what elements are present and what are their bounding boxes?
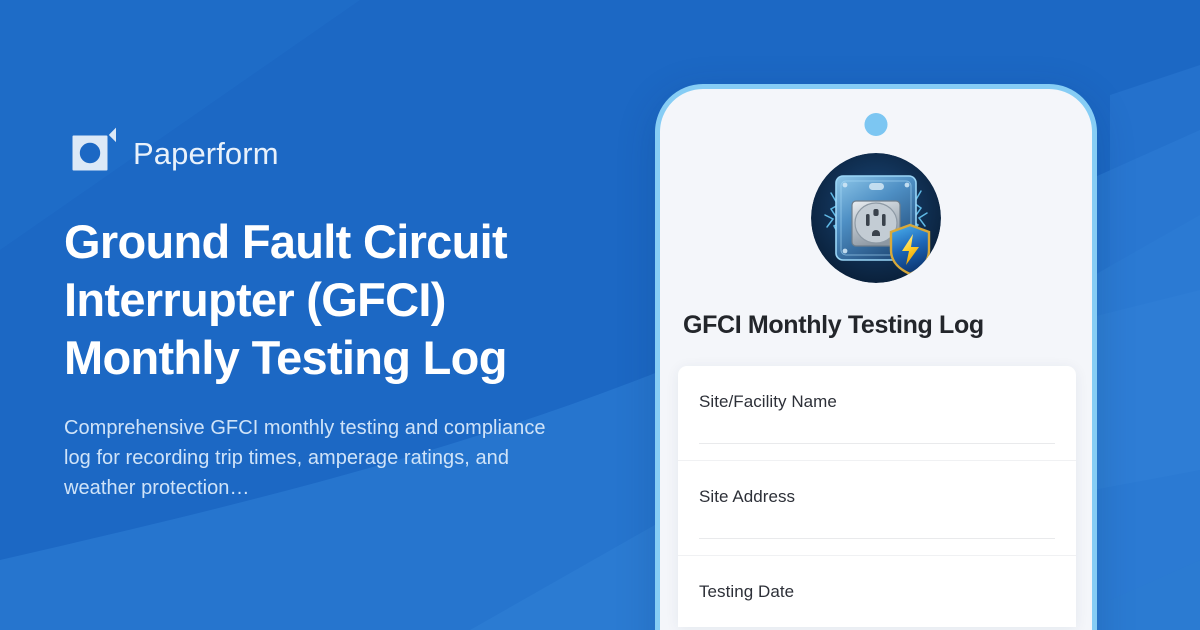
form-card: Site/Facility Name Site Address Testing … bbox=[678, 366, 1076, 627]
camera-dot-icon bbox=[865, 113, 888, 136]
form-field-site-address[interactable]: Site Address bbox=[678, 461, 1076, 556]
brand-logo[interactable]: Paperform bbox=[64, 127, 624, 179]
hero-content: Paperform Ground Fault Circuit Interrupt… bbox=[64, 0, 624, 630]
form-field-testing-date[interactable]: Testing Date bbox=[678, 556, 1076, 627]
page-subtitle: Comprehensive GFCI monthly testing and c… bbox=[64, 413, 564, 503]
field-label: Site/Facility Name bbox=[699, 391, 1055, 413]
field-label: Site Address bbox=[699, 486, 1055, 508]
form-title: GFCI Monthly Testing Log bbox=[683, 311, 1083, 340]
form-field-site-facility-name[interactable]: Site/Facility Name bbox=[678, 366, 1076, 461]
field-label: Testing Date bbox=[699, 581, 1055, 603]
gfci-outlet-shield-icon bbox=[811, 153, 941, 283]
page-title: Ground Fault Circuit Interrupter (GFCI) … bbox=[64, 213, 564, 387]
site-address-input[interactable] bbox=[699, 538, 1055, 539]
brand-name: Paperform bbox=[133, 138, 279, 169]
phone-mockup: GFCI Monthly Testing Log Site/Facility N… bbox=[655, 84, 1097, 630]
paperform-star-logo-icon bbox=[64, 127, 116, 179]
site-facility-name-input[interactable] bbox=[699, 443, 1055, 444]
